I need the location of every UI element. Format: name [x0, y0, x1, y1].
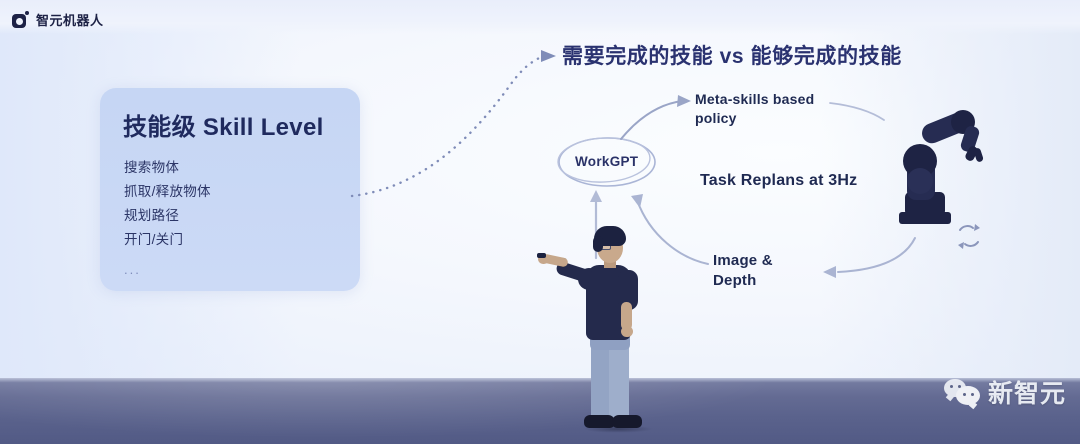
wechat-icon	[944, 379, 980, 405]
arrow-head-workgpt-icon	[631, 194, 643, 208]
dotted-arrow-head-icon	[541, 50, 556, 62]
arrow-head-metaskills-icon	[677, 95, 691, 107]
watermark-text: 新智元	[988, 374, 1066, 410]
image-depth-label: Image & Depth	[713, 251, 793, 291]
task-replans-label: Task Replans at 3Hz	[700, 172, 857, 190]
screenshot-root: 智元机器人 技能级 Skill Level 搜索物体 抓取/释放物体 规划路径 …	[0, 0, 1080, 444]
workgpt-label: WorkGPT	[575, 154, 638, 169]
arrow-head-task-icon	[590, 190, 602, 202]
arrow-robot-to-image	[838, 238, 915, 272]
arrow-head-image-icon	[823, 266, 836, 278]
dotted-curve-arrow-icon	[352, 56, 544, 196]
presenter-clicker	[537, 253, 546, 258]
robot-arm-icon	[893, 108, 983, 238]
arrow-workgpt-to-metaskills	[621, 101, 682, 139]
meta-skills-label: Meta-skills based policy	[695, 90, 825, 128]
watermark: 新智元	[944, 374, 1066, 410]
presenter	[538, 222, 666, 434]
arrow-metaskills-to-robot	[830, 103, 884, 120]
